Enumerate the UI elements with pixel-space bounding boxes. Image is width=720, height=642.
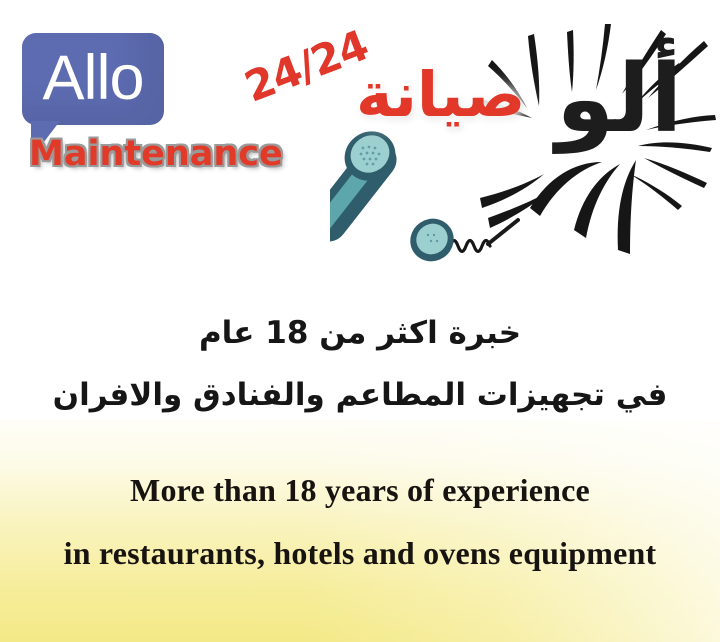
arabic-headline-line-2: في تجهيزات المطاعم والفنادق والافران xyxy=(0,377,720,413)
arabic-headline-line-1: خبرة اكثر من 18 عام xyxy=(0,315,720,351)
allo-speech-bubble: Allo xyxy=(22,33,164,125)
phone-handset-icon xyxy=(330,128,520,278)
english-headline-line-2: in restaurants, hotels and ovens equipme… xyxy=(0,535,720,572)
arabic-service-wordmark: صيانة xyxy=(356,58,525,131)
promo-poster: Allo Maintenance 24/24 صيانة ألو خبرة اك… xyxy=(0,0,720,642)
maintenance-wordmark: Maintenance xyxy=(29,134,283,174)
availability-badge: 24/24 xyxy=(238,20,374,111)
allo-bubble-label: Allo xyxy=(22,41,164,116)
arabic-allo-wordmark: ألو xyxy=(556,46,682,154)
english-headline-line-1: More than 18 years of experience xyxy=(0,472,720,509)
poster-header: Allo Maintenance 24/24 صيانة ألو xyxy=(0,0,720,290)
